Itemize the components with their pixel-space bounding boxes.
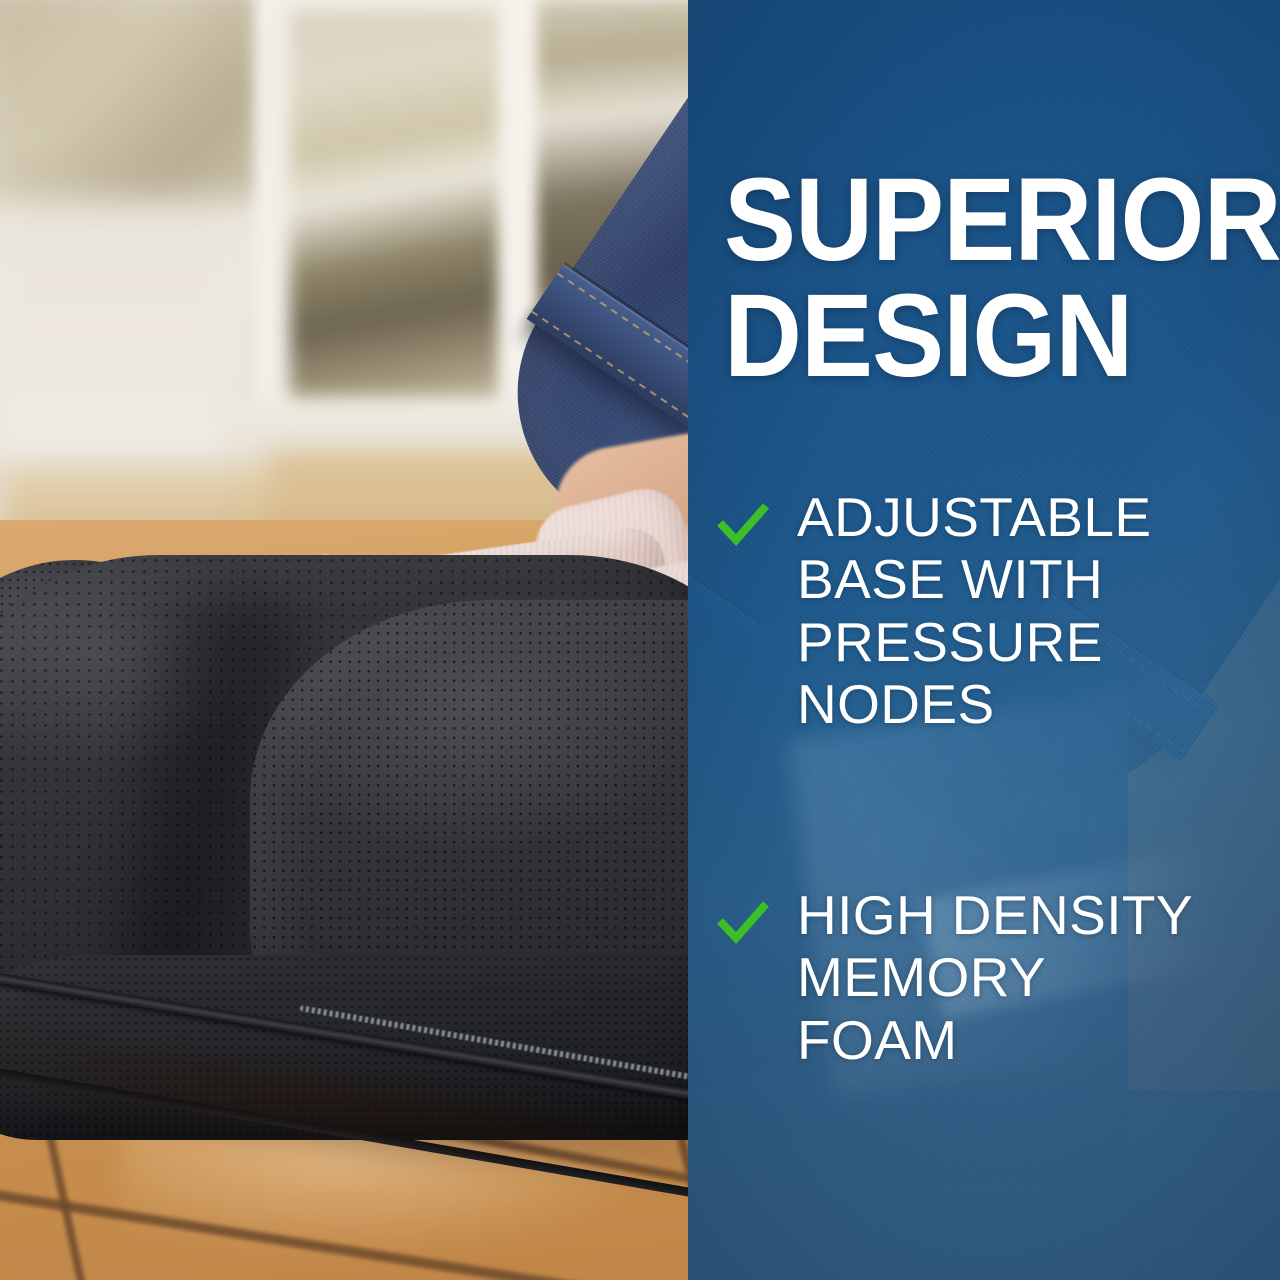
- page-title: SUPERIOR DESIGN: [724, 162, 1218, 394]
- check-icon: [714, 895, 772, 951]
- wall-artwork: [0, 0, 270, 200]
- feature-item-memory-foam: HIGH DENSITY MEMORY FOAM: [714, 884, 1274, 1071]
- headline-line-1: SUPERIOR: [724, 162, 1218, 278]
- feature-label: HIGH DENSITY MEMORY FOAM: [797, 884, 1197, 1071]
- check-icon: [714, 497, 772, 553]
- cabinet-glass-pane-1: [290, 10, 500, 405]
- feature-list: ADJUSTABLE BASE WITH PRESSURE NODES HIGH…: [714, 486, 1274, 1071]
- feature-label: ADJUSTABLE BASE WITH PRESSURE NODES: [797, 486, 1197, 736]
- headline-line-2: DESIGN: [724, 278, 1218, 394]
- product-infographic: SUPERIOR DESIGN ADJUSTABLE BASE WITH PRE…: [0, 0, 1280, 1280]
- panel-content: SUPERIOR DESIGN ADJUSTABLE BASE WITH PRE…: [688, 0, 1280, 1280]
- feature-item-adjustable-base: ADJUSTABLE BASE WITH PRESSURE NODES: [714, 486, 1274, 736]
